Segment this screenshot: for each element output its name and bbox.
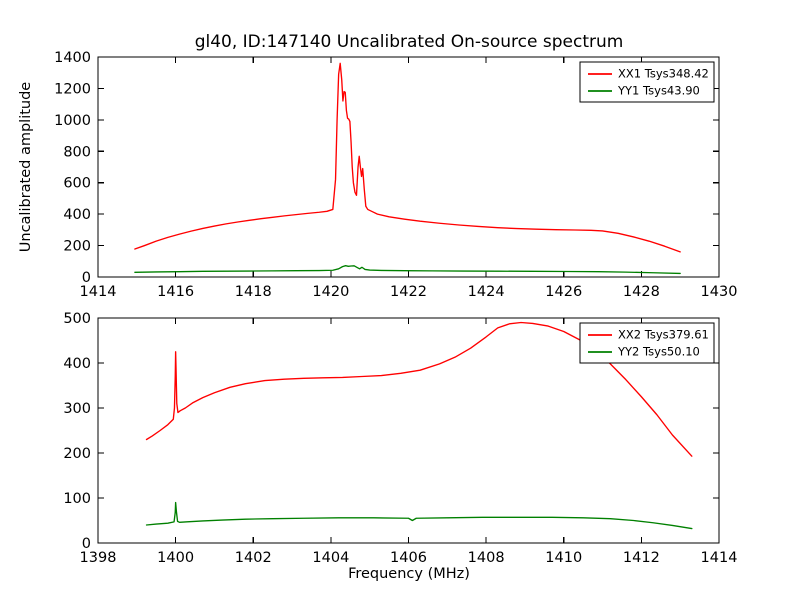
x-tick-label-bottom: 1402 bbox=[235, 550, 272, 566]
top-spectrum-panel: 1414141614181420142214241426142814300200… bbox=[18, 50, 737, 300]
x-tick-label-top: 1418 bbox=[235, 284, 272, 300]
x-tick-label-top: 1424 bbox=[468, 284, 505, 300]
y-tick-label-bottom: 500 bbox=[63, 311, 91, 327]
x-tick-label-top: 1426 bbox=[545, 284, 582, 300]
y-tick-label-bottom: 200 bbox=[63, 446, 91, 462]
top-panel-legend[interactable]: XX1 Tsys348.42YY1 Tsys43.90 bbox=[580, 62, 714, 102]
x-tick-label-bottom: 1400 bbox=[157, 550, 194, 566]
x-tick-label-top: 1414 bbox=[80, 284, 117, 300]
x-tick-label-bottom: 1408 bbox=[468, 550, 505, 566]
series-line-yy-top bbox=[135, 266, 680, 274]
x-axis-label-bottom: Frequency (MHz) bbox=[348, 566, 470, 582]
y-tick-label-top: 400 bbox=[63, 207, 91, 223]
x-tick-label-top: 1422 bbox=[390, 284, 427, 300]
x-tick-label-bottom: 1406 bbox=[390, 550, 427, 566]
series-line-yy-bottom bbox=[147, 503, 692, 529]
y-tick-label-bottom: 400 bbox=[63, 356, 91, 372]
x-tick-label-top: 1420 bbox=[312, 284, 349, 300]
x-tick-label-bottom: 1414 bbox=[701, 550, 738, 566]
y-tick-label-top: 1200 bbox=[54, 81, 91, 97]
y-tick-label-bottom: 0 bbox=[82, 536, 91, 552]
x-tick-label-bottom: 1398 bbox=[80, 550, 117, 566]
x-tick-label-top: 1430 bbox=[701, 284, 738, 300]
bottom-panel-legend[interactable]: XX2 Tsys379.61YY2 Tsys50.10 bbox=[580, 323, 714, 363]
x-tick-label-top: 1416 bbox=[157, 284, 194, 300]
y-tick-label-top: 600 bbox=[63, 176, 91, 192]
y-tick-label-bottom: 100 bbox=[63, 491, 91, 507]
bottom-spectrum-panel: 1398140014021404140614081410141214140100… bbox=[63, 311, 737, 582]
y-tick-label-bottom: 300 bbox=[63, 401, 91, 417]
legend-label-yy-top: YY1 Tsys43.90 bbox=[617, 84, 700, 98]
y-tick-label-top: 1000 bbox=[54, 113, 91, 129]
x-tick-label-bottom: 1410 bbox=[545, 550, 582, 566]
y-tick-label-top: 800 bbox=[63, 144, 91, 160]
legend-label-yy-bottom: YY2 Tsys50.10 bbox=[617, 345, 700, 359]
y-tick-label-top: 1400 bbox=[54, 50, 91, 66]
matplotlib-canvas: gl40, ID:147140 Uncalibrated On-source s… bbox=[0, 0, 800, 600]
page-title: gl40, ID:147140 Uncalibrated On-source s… bbox=[195, 32, 624, 52]
x-tick-label-top: 1428 bbox=[623, 284, 660, 300]
legend-label-xx-bottom: XX2 Tsys379.61 bbox=[618, 328, 709, 342]
y-tick-label-top: 0 bbox=[82, 270, 91, 286]
y-tick-label-top: 200 bbox=[63, 239, 91, 255]
spectrum-figure: gl40, ID:147140 Uncalibrated On-source s… bbox=[0, 0, 800, 600]
y-axis-label-top: Uncalibrated amplitude bbox=[18, 82, 34, 253]
x-tick-label-bottom: 1412 bbox=[623, 550, 660, 566]
x-tick-label-bottom: 1404 bbox=[312, 550, 349, 566]
legend-label-xx-top: XX1 Tsys348.42 bbox=[618, 67, 709, 81]
